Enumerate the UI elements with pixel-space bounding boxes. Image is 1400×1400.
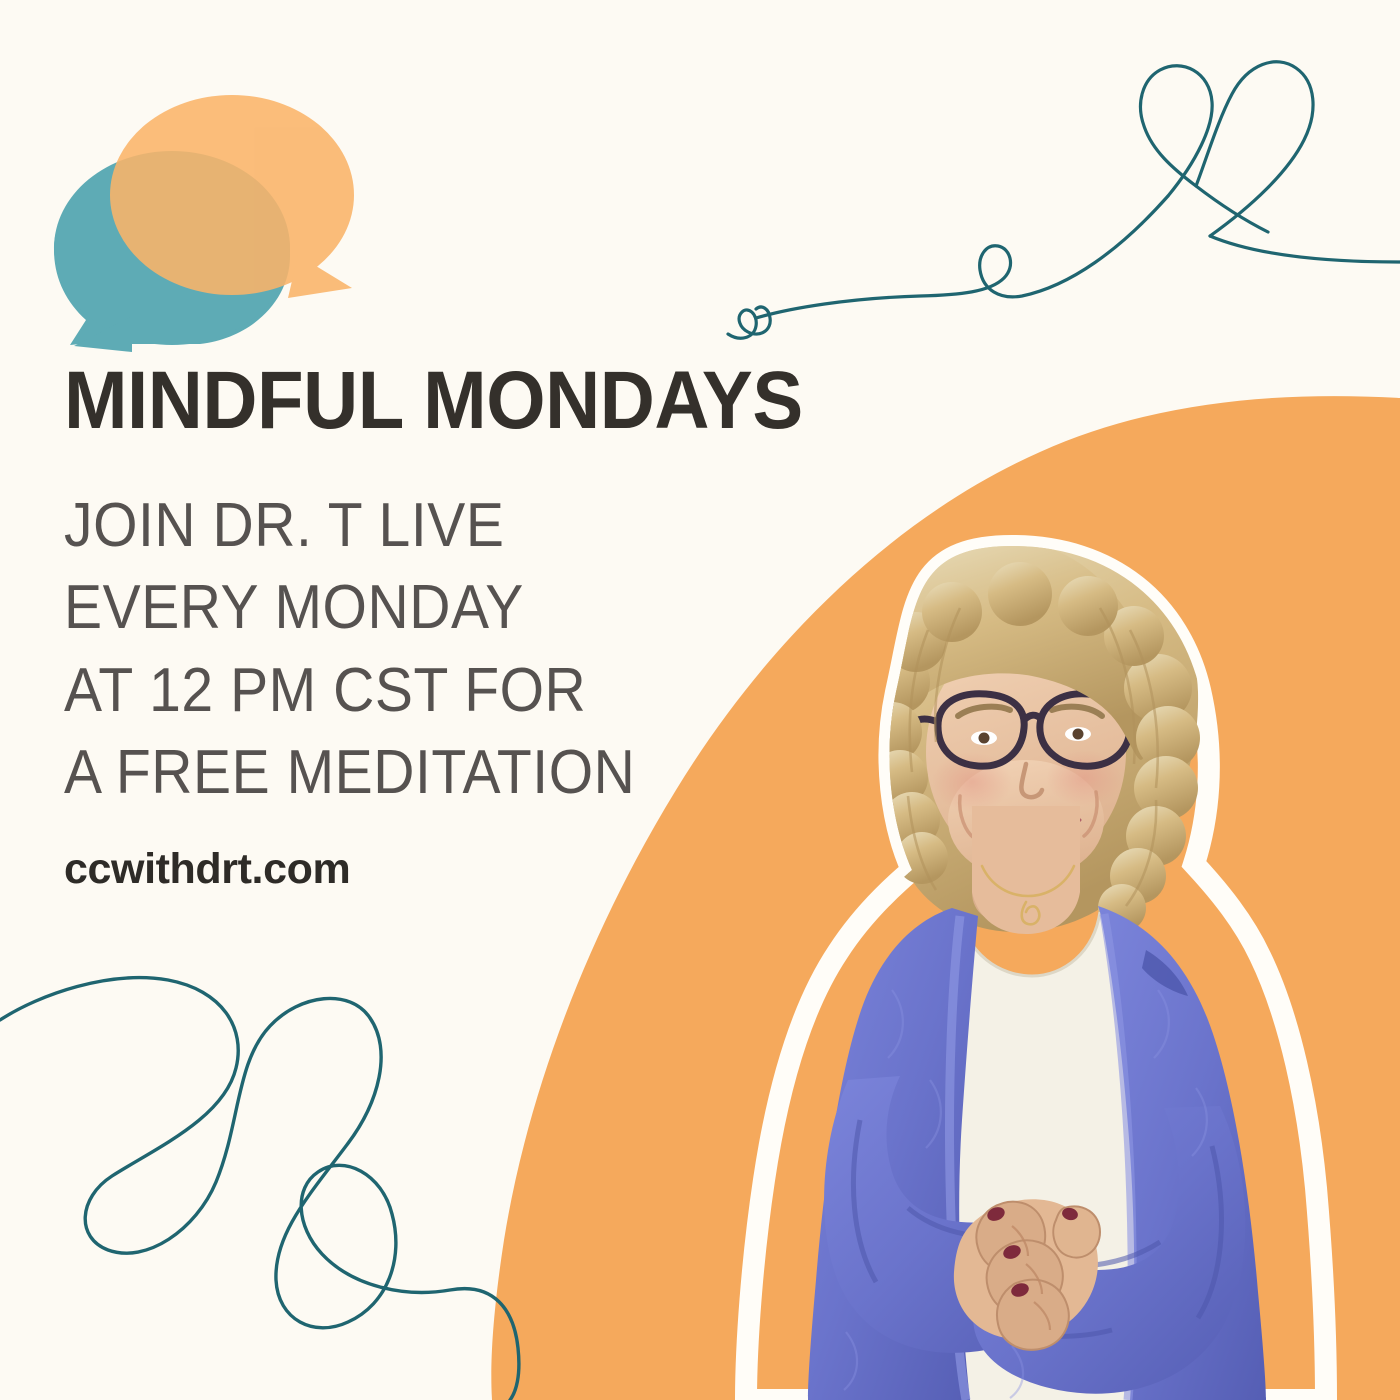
subheadline: JOIN DR. T LIVE EVERY MONDAY AT 12 PM CS…: [64, 485, 708, 815]
subheadline-line-3: AT 12 PM CST FOR: [64, 650, 708, 732]
text-content-block: MINDFUL MONDAYS JOIN DR. T LIVE EVERY MO…: [64, 362, 764, 894]
page-title: MINDFUL MONDAYS: [64, 362, 715, 441]
subheadline-line-1: JOIN DR. T LIVE: [64, 485, 708, 567]
portrait-woman-hands-clasped: [660, 520, 1380, 1400]
website-url[interactable]: ccwithdrt.com: [64, 845, 764, 894]
squiggle-path: [0, 978, 519, 1400]
subheadline-line-2: EVERY MONDAY: [64, 567, 708, 649]
subheadline-line-4: A FREE MEDITATION: [64, 732, 708, 814]
poster-canvas: MINDFUL MONDAYS JOIN DR. T LIVE EVERY MO…: [0, 0, 1400, 1400]
chest: [972, 806, 1080, 934]
